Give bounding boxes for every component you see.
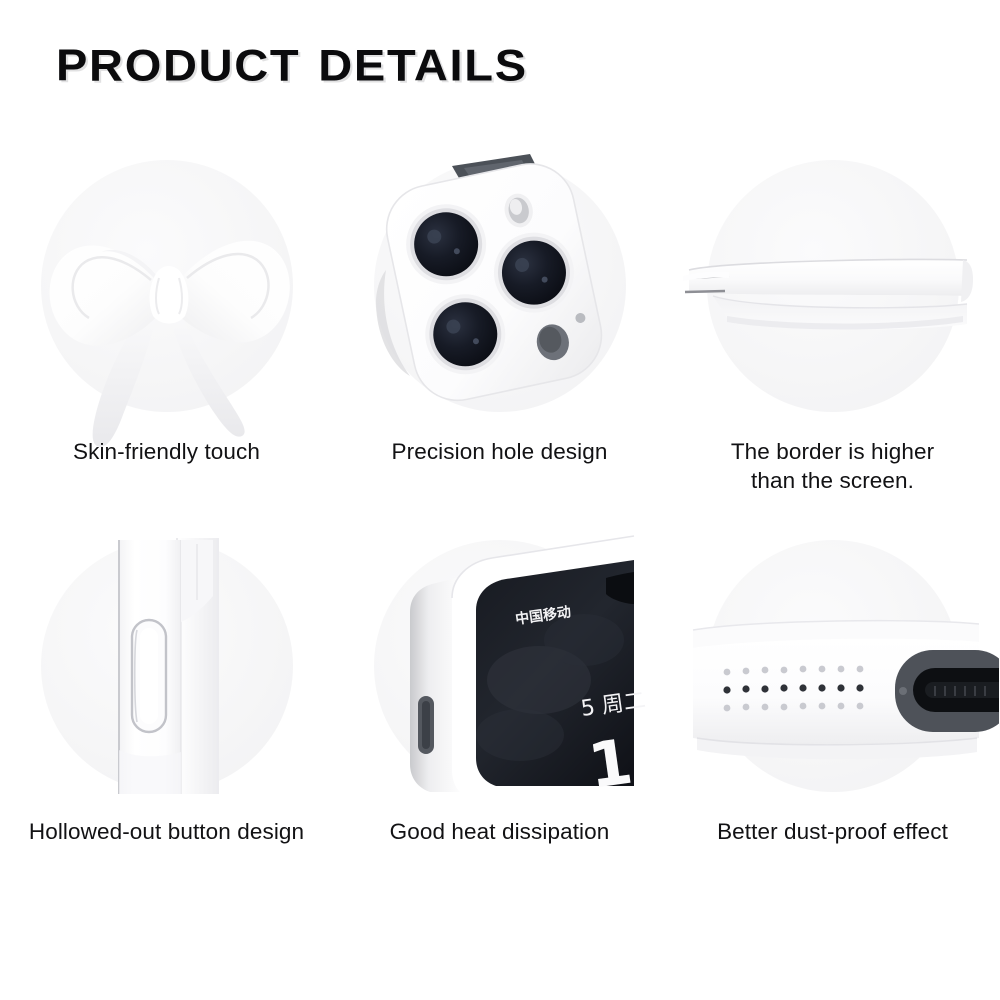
feature-raised-border: The border is higher than the screen.	[666, 150, 999, 530]
feature-better-dust-proof-effect: Better dust-proof effect	[666, 530, 999, 910]
white-fabric-bow-icon	[41, 160, 293, 412]
feature-skin-friendly-touch: Skin-friendly touch	[0, 150, 333, 530]
side-button-cutout-icon	[41, 540, 293, 792]
page-title-word-1: PRODUCT	[56, 40, 300, 90]
feature-media	[41, 160, 293, 412]
feature-good-heat-dissipation: 中国移动 5 周二 1 Good heat dissipation	[333, 530, 666, 910]
bottom-port-grille-icon	[707, 540, 959, 792]
feature-media: 中国移动 5 周二 1	[374, 540, 626, 792]
caption-line-2: than the screen.	[751, 468, 914, 493]
feature-hollowed-out-button-design: Hollowed-out button design	[0, 530, 333, 910]
feature-caption: Good heat dissipation	[333, 818, 666, 847]
feature-caption: Precision hole design	[333, 438, 666, 467]
feature-caption: Hollowed-out button design	[0, 818, 355, 847]
feature-media	[41, 540, 293, 792]
page-title-word-2: DETAILS	[300, 40, 527, 90]
feature-caption: Skin-friendly touch	[0, 438, 333, 467]
caption-line-1: The border is higher	[731, 439, 934, 464]
phone-corner-lockscreen-icon: 中国移动 5 周二 1	[374, 540, 626, 792]
feature-media	[707, 160, 959, 412]
feature-precision-hole-design: Precision hole design	[333, 150, 666, 530]
feature-caption: Better dust-proof effect	[666, 818, 999, 847]
raised-edge-profile-icon	[707, 160, 959, 412]
feature-media	[707, 540, 959, 792]
feature-caption: The border is higher than the screen.	[644, 438, 1000, 496]
page-title: PRODUCTDETAILS	[56, 40, 528, 91]
feature-media	[374, 160, 626, 412]
triple-camera-module-icon	[374, 160, 626, 412]
features-grid: Skin-friendly touch	[0, 150, 1000, 910]
